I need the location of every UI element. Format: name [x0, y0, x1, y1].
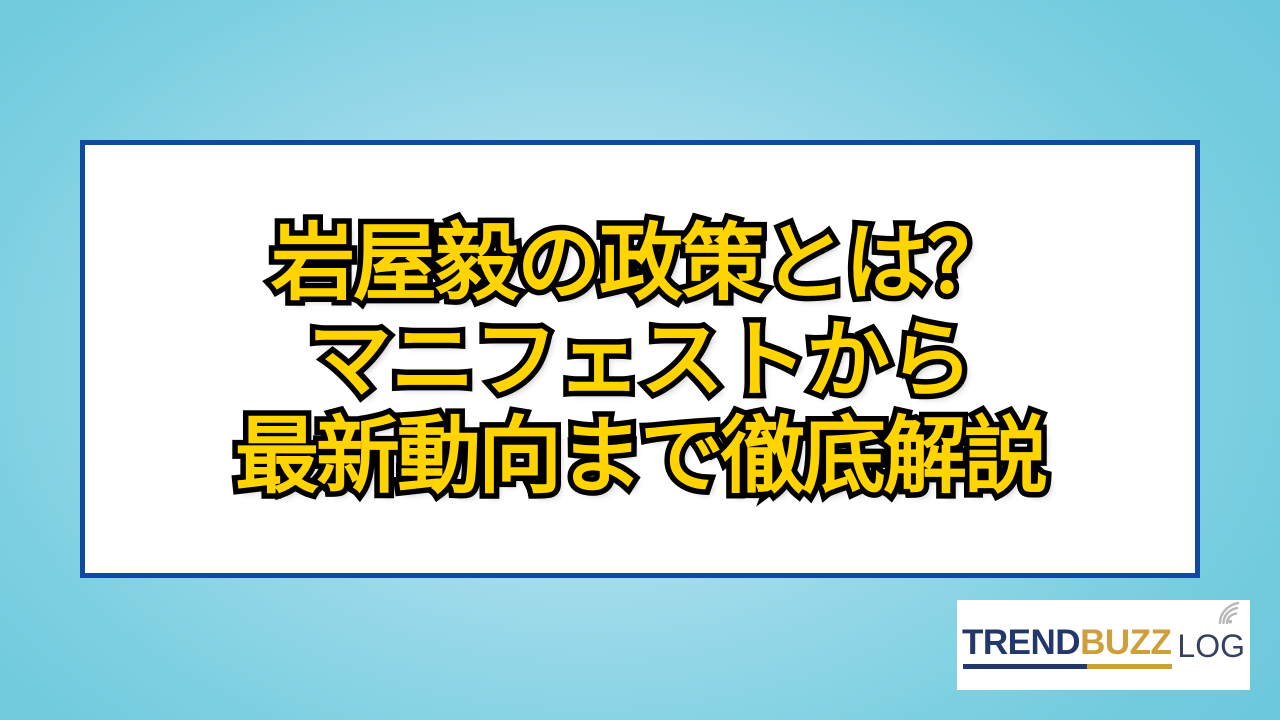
headline-line-1: 岩屋毅の政策とは？ — [271, 218, 1009, 309]
thumbnail-canvas: 岩屋毅の政策とは？ マニフェストから 最新動向まで徹底解説 TRENDBUZZ … — [0, 0, 1280, 720]
logo-underline-bar — [963, 664, 1172, 669]
title-card: 岩屋毅の政策とは？ マニフェストから 最新動向まで徹底解説 — [80, 140, 1200, 578]
wifi-signal-icon — [1217, 599, 1247, 625]
logo-underline-navy-segment — [963, 664, 1087, 669]
logo-underline-gold-segment — [1087, 664, 1173, 669]
logo-inner: TRENDBUZZ LOG — [962, 625, 1245, 666]
logo-text-log: LOG — [1177, 630, 1245, 662]
logo-text-trend: TREND — [962, 623, 1080, 662]
logo-wordmark: TRENDBUZZ — [962, 625, 1171, 660]
headline-line-3: 最新動向まで徹底解説 — [235, 411, 1045, 502]
logo-badge[interactable]: TRENDBUZZ LOG — [957, 600, 1250, 690]
logo-text-buzz: BUZZ — [1080, 623, 1171, 662]
headline-block: 岩屋毅の政策とは？ マニフェストから 最新動向まで徹底解説 — [85, 218, 1195, 502]
headline-line-2: マニフェストから — [308, 315, 972, 406]
